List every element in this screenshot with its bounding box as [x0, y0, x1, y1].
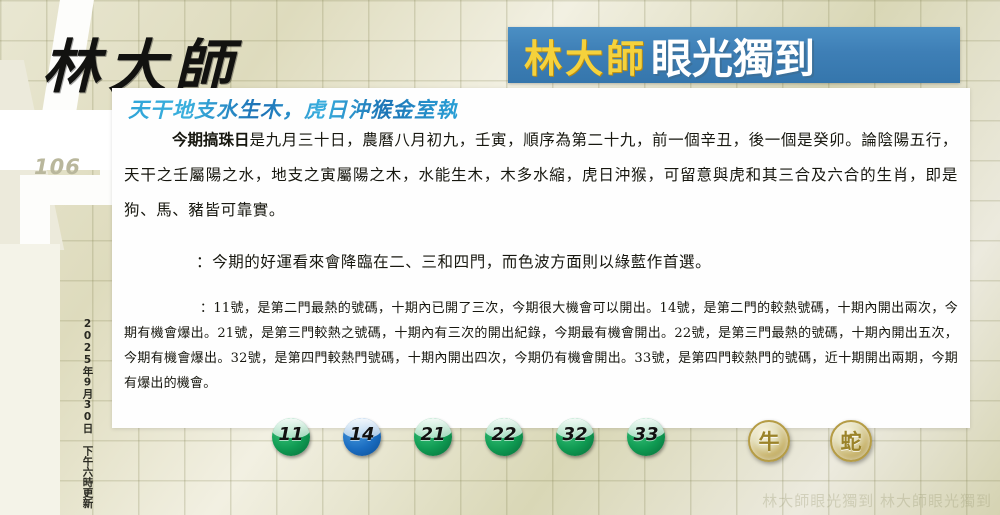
ball-number: 33 — [633, 424, 658, 445]
paragraph-1-lead: 今期搞珠日 — [172, 130, 250, 149]
number-ball[interactable]: 14 — [343, 418, 381, 456]
ball-number: 21 — [420, 424, 445, 445]
page-number: 106 — [34, 155, 81, 179]
number-ball[interactable]: 33 — [627, 418, 665, 456]
article-body: 今期搞珠日是九月三十日，農曆八月初九，壬寅，順序為第二十九，前一個辛丑，後一個是… — [124, 122, 958, 396]
number-ball[interactable]: 22 — [485, 418, 523, 456]
paragraph-2-text: ：今期的好運看來會降臨在二、三和四門，而色波方面則以綠藍作首選。 — [196, 253, 711, 271]
predicted-numbers: 11 14 21 22 32 33 — [272, 418, 665, 456]
update-timestamp: 2025年9月30日 下午六時更新 — [82, 318, 93, 509]
banner-brand-name: 林大師 — [514, 28, 647, 83]
background-ribbon-shape — [0, 244, 60, 515]
paragraph-2: ：今期的好運看來會降臨在二、三和四門，而色波方面則以綠藍作首選。 — [124, 245, 958, 280]
ball-number: 14 — [349, 424, 374, 445]
paragraph-3: ：11號，是第二門最熱的號碼，十期內已開了三次，今期很大機會可以開出。14號，是… — [124, 296, 958, 396]
newspaper-page: 106 2025年9月30日 下午六時更新 林大師 林大師 眼光獨到 天干地支水… — [0, 0, 1000, 515]
zodiac-coin[interactable]: 牛 — [748, 420, 790, 462]
article-headline: 天干地支水生木，虎日沖猴金室執 — [128, 94, 458, 124]
number-ball[interactable]: 21 — [414, 418, 452, 456]
ball-number: 32 — [562, 424, 587, 445]
predicted-zodiacs: 牛 蛇 — [748, 420, 872, 462]
zodiac-label: 牛 — [759, 426, 780, 456]
zodiac-label: 蛇 — [841, 426, 862, 456]
ball-number: 11 — [278, 424, 303, 445]
paragraph-3-text: ：11號，是第二門最熱的號碼，十期內已開了三次，今期很大機會可以開出。14號，是… — [124, 301, 958, 391]
brand-banner: 林大師 眼光獨到 — [508, 27, 960, 83]
ball-number: 22 — [491, 424, 516, 445]
paragraph-1-text: 是九月三十日，農曆八月初九，壬寅，順序為第二十九，前一個辛丑，後一個是癸卯。論陰… — [124, 131, 958, 219]
number-ball[interactable]: 11 — [272, 418, 310, 456]
paragraph-1: 今期搞珠日是九月三十日，農曆八月初九，壬寅，順序為第二十九，前一個辛丑，後一個是… — [124, 122, 958, 228]
background-ribbon-shape — [20, 175, 50, 495]
zodiac-coin[interactable]: 蛇 — [830, 420, 872, 462]
banner-slogan: 眼光獨到 — [651, 25, 815, 85]
watermark-text: 林大師眼光獨到 林大師眼光獨到 — [762, 490, 992, 511]
number-ball[interactable]: 32 — [556, 418, 594, 456]
